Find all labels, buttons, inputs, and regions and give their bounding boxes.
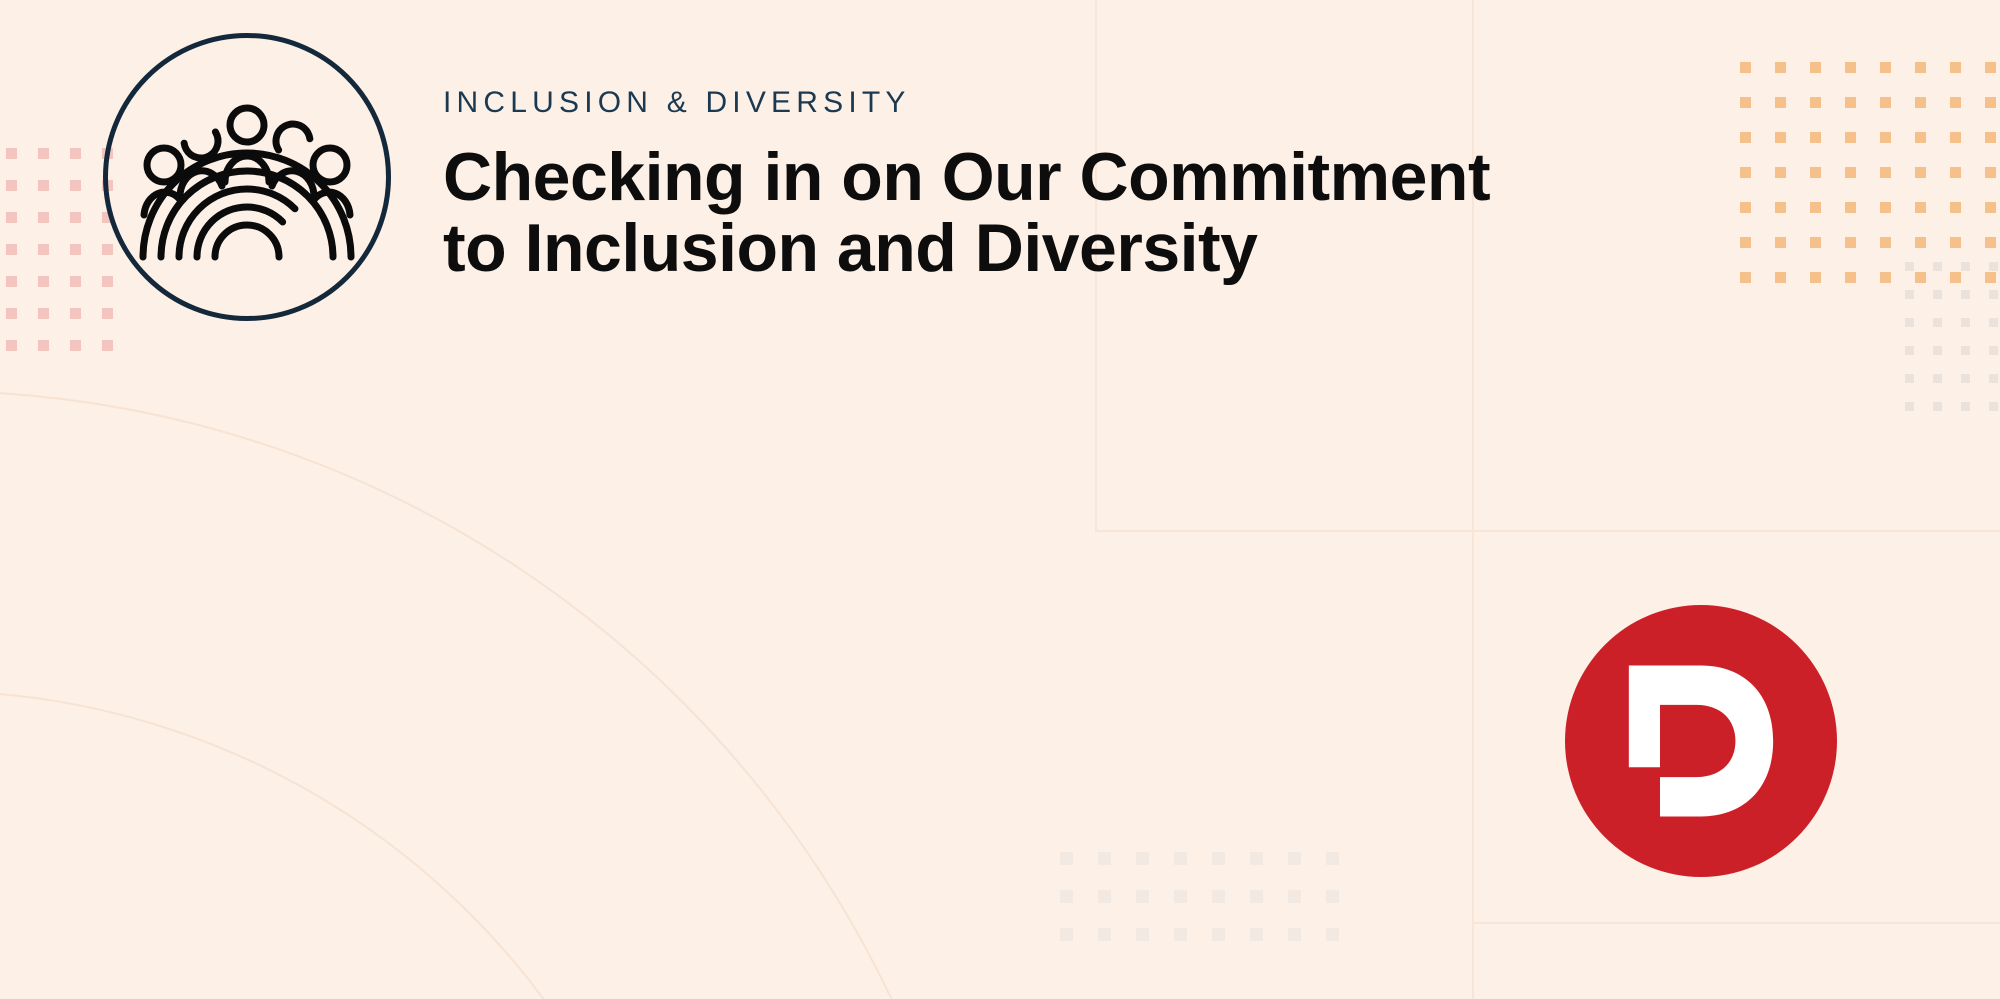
grid-line-horizontal-upper: [1095, 530, 2000, 532]
grid-line-horizontal-lower: [1472, 922, 2000, 924]
people-rainbow-emblem: [103, 33, 391, 321]
page-title-line-2: to Inclusion and Diversity: [443, 213, 1493, 284]
dot-grid-gray-top-right: [1905, 262, 2000, 411]
page-title-line-1: Checking in on Our Commitment: [443, 142, 1493, 213]
eyebrow-label: INCLUSION & DIVERSITY: [443, 88, 1493, 118]
dot-grid-gray-bottom-center: [1060, 852, 1339, 941]
brand-d-logo: [1565, 605, 1837, 877]
banner-canvas: INCLUSION & DIVERSITY Checking in on Our…: [0, 0, 2000, 999]
people-rainbow-icon: [139, 103, 355, 263]
dot-grid-pink-left-edge: [6, 148, 113, 351]
dot-grid-orange-top-right: [1740, 62, 1996, 283]
brand-d-letter-icon: [1619, 659, 1783, 823]
page-title: Checking in on Our Commitment to Inclusi…: [443, 142, 1493, 283]
header-text-block: INCLUSION & DIVERSITY Checking in on Our…: [443, 88, 1493, 283]
